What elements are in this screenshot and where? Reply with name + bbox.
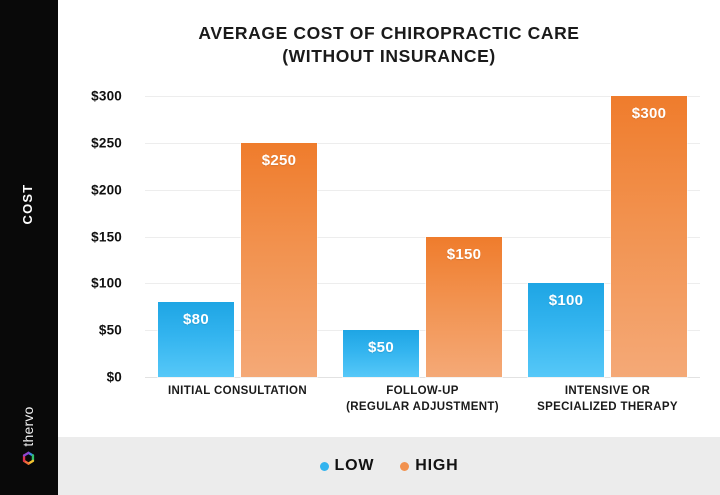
bars-layer: $80$250$50$150$100$300 bbox=[145, 96, 700, 377]
chart-title-line-1: AVERAGE COST OF CHIROPRACTIC CARE bbox=[198, 23, 579, 43]
x-axis-label-3: INTENSIVE ORSPECIALIZED THERAPY bbox=[505, 383, 710, 415]
x-axis-label-line-1: INTENSIVE OR bbox=[565, 385, 650, 397]
bar-low-2: $50 bbox=[343, 330, 419, 377]
legend-item-low[interactable]: LOW bbox=[320, 457, 375, 475]
bar-high-1: $250 bbox=[241, 143, 317, 377]
bar-high-3: $300 bbox=[611, 96, 687, 377]
chart-title: AVERAGE COST OF CHIROPRACTIC CARE (WITHO… bbox=[58, 22, 720, 68]
x-axis-label-line-1: INITIAL CONSULTATION bbox=[168, 385, 307, 397]
y-axis-tick-label: $200 bbox=[50, 182, 122, 197]
chart-panel: AVERAGE COST OF CHIROPRACTIC CARE (WITHO… bbox=[58, 0, 720, 437]
brand-lockup: thervo bbox=[17, 386, 39, 486]
legend-label: HIGH bbox=[415, 457, 458, 475]
legend-label: LOW bbox=[335, 457, 375, 475]
bar-value-label: $50 bbox=[343, 339, 419, 356]
bar-low-1: $80 bbox=[158, 302, 234, 377]
bar-value-label: $250 bbox=[241, 152, 317, 169]
bar-value-label: $100 bbox=[528, 292, 604, 309]
x-axis-label-1: INITIAL CONSULTATION bbox=[135, 383, 340, 399]
chart-title-line-2: (WITHOUT INSURANCE) bbox=[58, 45, 720, 68]
chart-legend: LOWHIGH bbox=[58, 437, 720, 495]
x-axis-label-line-2: (REGULAR ADJUSTMENT) bbox=[320, 399, 525, 415]
y-axis-tick-labels: $300$250$200$150$100$50$0 bbox=[50, 96, 122, 377]
bar-high-2: $150 bbox=[426, 237, 502, 378]
x-axis-category-labels: INITIAL CONSULTATIONFOLLOW-UP(REGULAR AD… bbox=[145, 383, 700, 431]
legend-item-high[interactable]: HIGH bbox=[400, 457, 458, 475]
y-axis-tick-label: $0 bbox=[50, 370, 122, 385]
legend-swatch-low-icon bbox=[320, 462, 329, 471]
x-axis-label-line-1: FOLLOW-UP bbox=[386, 385, 459, 397]
bar-value-label: $80 bbox=[158, 311, 234, 328]
x-axis-label-line-2: SPECIALIZED THERAPY bbox=[505, 399, 710, 415]
brand-name: thervo bbox=[20, 406, 36, 446]
y-axis-title: COST bbox=[20, 149, 36, 259]
bar-low-3: $100 bbox=[528, 283, 604, 377]
bar-value-label: $150 bbox=[426, 246, 502, 263]
gridline bbox=[145, 377, 700, 378]
x-axis-label-2: FOLLOW-UP(REGULAR ADJUSTMENT) bbox=[320, 383, 525, 415]
y-axis-tick-label: $100 bbox=[50, 276, 122, 291]
y-axis-tick-label: $150 bbox=[50, 229, 122, 244]
infographic-root: COST thervo AVERAGE COST OF C bbox=[0, 0, 720, 495]
bar-value-label: $300 bbox=[611, 105, 687, 122]
y-axis-tick-label: $50 bbox=[50, 323, 122, 338]
thervo-hexagon-logo-icon bbox=[21, 451, 36, 466]
y-axis-tick-label: $250 bbox=[50, 135, 122, 150]
legend-swatch-high-icon bbox=[400, 462, 409, 471]
y-axis-tick-label: $300 bbox=[50, 89, 122, 104]
